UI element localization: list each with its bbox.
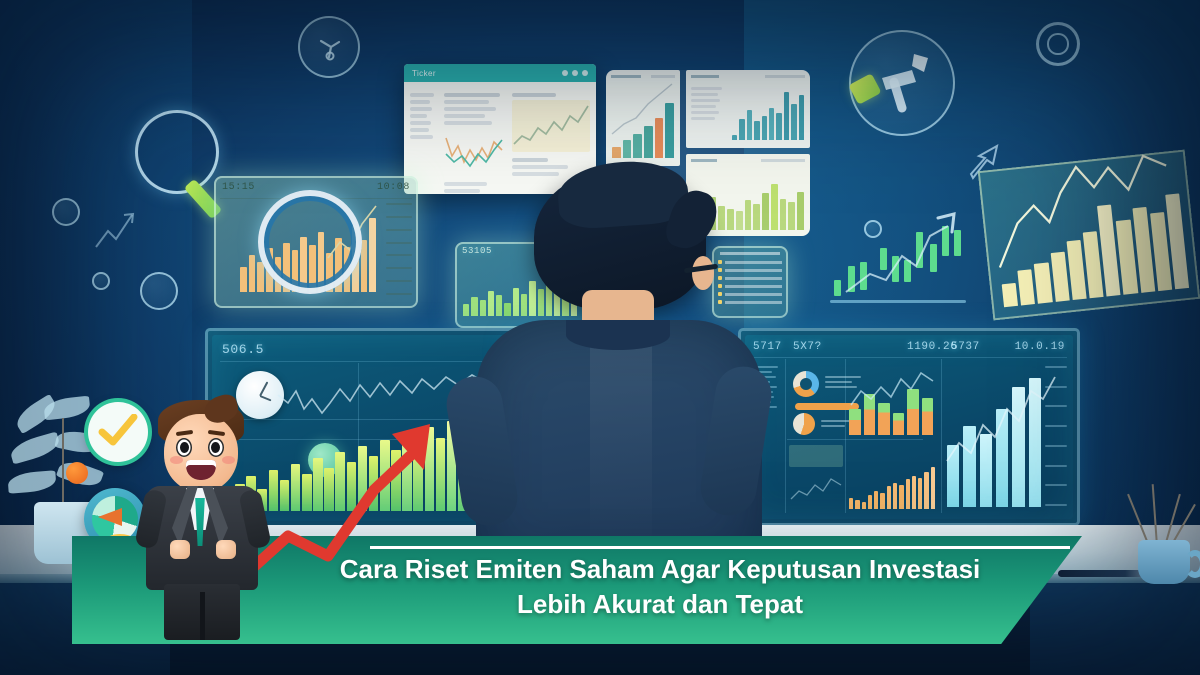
illustration-stage: Ticker (0, 0, 1200, 675)
banner-title-line2: Lebih Akurat dan Tepat (300, 587, 1020, 622)
mascot-head (164, 414, 238, 492)
person-collar (566, 320, 670, 350)
mascot-businessman (138, 394, 268, 639)
coffee-mug-with-flowers (1120, 478, 1200, 588)
orange-dot-decor (66, 462, 88, 484)
analyst-person (470, 170, 760, 570)
